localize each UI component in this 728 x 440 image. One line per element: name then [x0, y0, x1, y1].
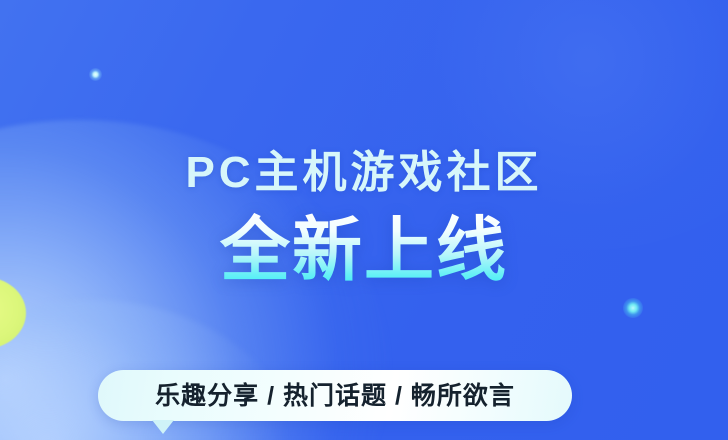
tagline-pill: 乐趣分享 / 热门话题 / 畅所欲言: [98, 370, 572, 421]
tagline-text: 乐趣分享 / 热门话题 / 畅所欲言: [155, 381, 515, 411]
glow-dot-icon: [89, 68, 102, 81]
headline-group: PC主机游戏社区 全新上线: [0, 146, 728, 290]
promo-banner: PC主机游戏社区 全新上线 乐趣分享 / 热门话题 / 畅所欲言: [0, 0, 728, 440]
cyan-glow-dot-icon: [623, 298, 643, 318]
headline-subtitle: PC主机游戏社区: [0, 146, 728, 200]
headline-title: 全新上线: [0, 210, 728, 290]
speech-bubble-tail-icon: [152, 420, 174, 434]
